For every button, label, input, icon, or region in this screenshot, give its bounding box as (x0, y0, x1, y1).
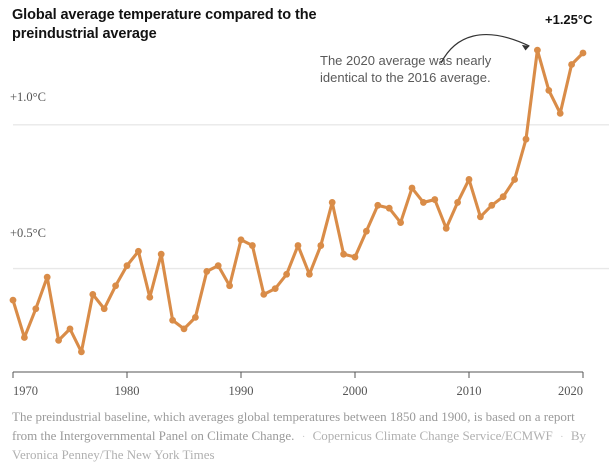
data-point-2002 (374, 202, 381, 209)
data-point-1995 (295, 242, 302, 249)
data-point-2009 (454, 199, 461, 206)
footer-source: Copernicus Climate Change Service/ECMWF (313, 428, 553, 443)
data-point-2006 (420, 199, 427, 206)
x-axis-label-2000: 2000 (343, 384, 368, 399)
x-axis-label-1990: 1990 (229, 384, 254, 399)
x-axis-label-1970: 1970 (13, 384, 38, 399)
data-point-1982 (146, 294, 153, 301)
x-axis-label-2010: 2010 (457, 384, 482, 399)
data-point-1975 (67, 325, 74, 332)
data-point-2001 (363, 228, 370, 235)
data-point-1973 (44, 274, 51, 281)
data-point-1978 (101, 305, 108, 312)
data-point-1970 (10, 297, 17, 304)
data-point-2000 (352, 254, 359, 261)
data-point-1989 (226, 282, 233, 289)
data-point-2018 (557, 110, 564, 117)
data-point-1993 (272, 285, 279, 292)
data-point-1988 (215, 262, 222, 269)
data-point-1980 (124, 262, 131, 269)
data-point-2010 (466, 176, 473, 183)
data-point-2012 (488, 202, 495, 209)
data-point-1999 (340, 251, 347, 258)
data-point-1971 (21, 334, 28, 341)
data-point-1998 (329, 199, 336, 206)
data-point-1972 (32, 305, 39, 312)
data-point-2011 (477, 213, 484, 220)
data-point-2020 (580, 50, 587, 57)
data-point-1987 (203, 268, 210, 275)
data-point-2016 (534, 47, 541, 54)
footer-separator-2: · (556, 431, 568, 443)
data-point-2007 (431, 196, 438, 203)
data-point-2015 (523, 136, 530, 143)
data-point-1994 (283, 271, 290, 278)
data-point-1974 (55, 337, 62, 344)
data-point-1997 (317, 242, 324, 249)
data-point-2004 (397, 219, 404, 226)
data-point-1990 (238, 236, 245, 243)
annotation-arrow (441, 35, 529, 63)
data-point-2014 (511, 176, 518, 183)
data-point-1992 (260, 291, 267, 298)
footer-separator-1: · (298, 431, 310, 443)
data-line (13, 50, 583, 352)
data-point-1991 (249, 242, 256, 249)
x-axis-label-1980: 1980 (115, 384, 140, 399)
x-axis-label-2020: 2020 (558, 384, 583, 399)
data-point-2019 (568, 61, 575, 68)
data-point-1981 (135, 248, 142, 255)
y-axis-label-1: +1.0°C (10, 90, 50, 105)
temperature-line-chart (0, 0, 609, 400)
data-point-1977 (89, 291, 96, 298)
data-point-2013 (500, 193, 507, 200)
data-point-2008 (443, 225, 450, 232)
data-point-2017 (545, 87, 552, 94)
data-point-2003 (386, 205, 393, 212)
data-point-1986 (192, 314, 199, 321)
data-point-1983 (158, 251, 165, 258)
data-point-1976 (78, 348, 85, 355)
data-point-1979 (112, 282, 119, 289)
y-axis-label-0: +0.5°C (10, 226, 50, 241)
data-point-2005 (409, 185, 416, 192)
data-point-1996 (306, 271, 313, 278)
chart-page: Global average temperature compared to t… (0, 0, 609, 468)
chart-footer: The preindustrial baseline, which averag… (12, 408, 600, 465)
data-point-1984 (169, 317, 176, 324)
data-point-1985 (181, 325, 188, 332)
